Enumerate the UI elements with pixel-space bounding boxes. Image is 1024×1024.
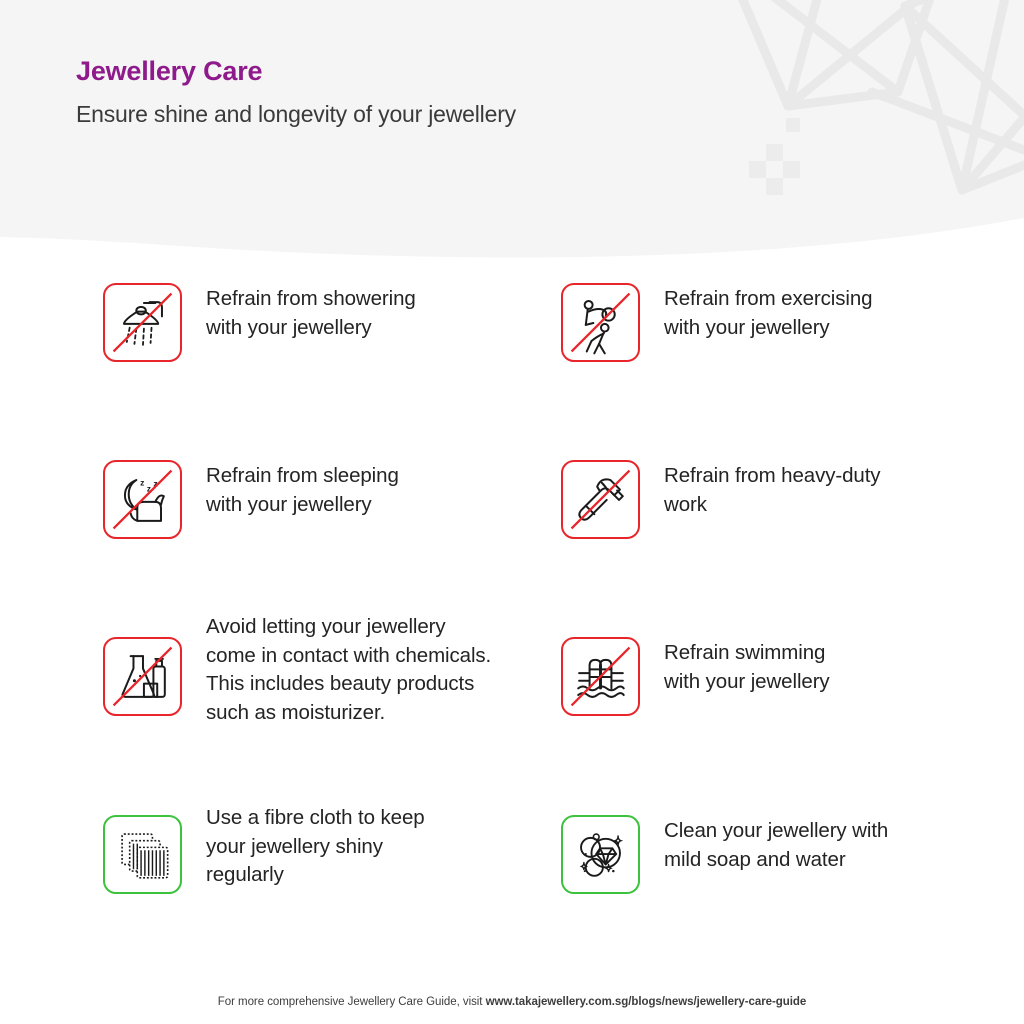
care-tip-text: Refrain from sleeping with your jeweller… [206,460,399,519]
care-tip-item: Clean your jewellery with mild soap and … [561,815,991,894]
page-title: Jewellery Care [76,55,516,87]
footer-prefix-text: For more comprehensive Jewellery Care Gu… [218,996,486,1008]
care-tip-item: Refrain from heavy-duty work [561,460,991,539]
header-background-shape [0,0,1024,270]
care-tip-text: Refrain from heavy-duty work [664,460,880,519]
page-subtitle: Ensure shine and longevity of your jewel… [76,100,516,129]
care-tip-item: Avoid letting your jewellery come in con… [103,637,553,727]
svg-text:z: z [140,478,144,488]
hammer-icon [561,460,640,539]
care-tip-item: z z z Refrain from sleeping with your je… [103,460,553,539]
care-tip-item: Refrain swimming with your jewellery [561,637,991,716]
care-tip-text: Clean your jewellery with mild soap and … [664,815,888,874]
care-tip-item: Refrain from showering with your jewelle… [103,283,553,362]
care-tip-item: Refrain from exercising with your jewell… [561,283,991,362]
footer-note: For more comprehensive Jewellery Care Gu… [0,996,1024,1008]
header-text-block: Jewellery Care Ensure shine and longevit… [76,55,516,129]
sleeping-moon-cat-icon: z z z [103,460,182,539]
care-tip-text: Refrain swimming with your jewellery [664,637,830,696]
header-banner: Jewellery Care Ensure shine and longevit… [0,0,1024,270]
care-tip-text: Use a fibre cloth to keep your jewellery… [206,802,425,890]
care-tip-item: Use a fibre cloth to keep your jewellery… [103,815,553,894]
soap-bubbles-gem-icon [561,815,640,894]
swimming-pool-icon [561,637,640,716]
exercising-person-icon [561,283,640,362]
footer-url[interactable]: www.takajewellery.com.sg/blogs/news/jewe… [486,996,807,1008]
care-tip-text: Avoid letting your jewellery come in con… [206,611,491,727]
jewellery-care-infographic: Jewellery Care Ensure shine and longevit… [0,0,1024,1024]
shower-icon [103,283,182,362]
chemicals-flask-spray-icon [103,637,182,716]
care-tips-grid: Refrain from showering with your jewelle… [0,270,1024,970]
fibre-cloth-stack-icon [103,815,182,894]
care-tip-text: Refrain from showering with your jewelle… [206,283,416,342]
care-tip-text: Refrain from exercising with your jewell… [664,283,872,342]
